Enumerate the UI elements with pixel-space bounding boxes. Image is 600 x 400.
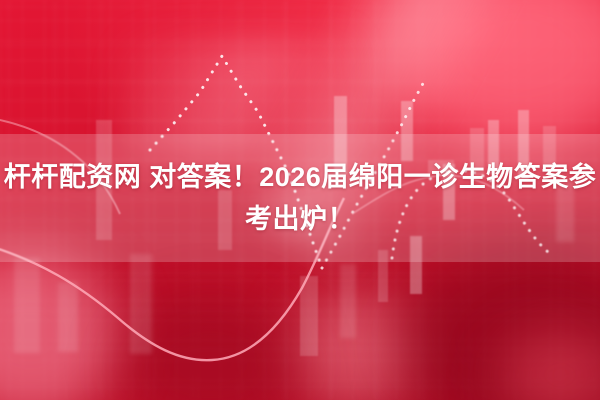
headline-line-1: 杆杆配资网 对答案！2026届绵阳一诊生物答案参 (4, 160, 597, 194)
headline: 杆杆配资网 对答案！2026届绵阳一诊生物答案参 考出炉！ (0, 134, 600, 262)
headline-line-2: 考出炉！ (245, 202, 355, 236)
banner-image: 杆杆配资网 对答案！2026届绵阳一诊生物答案参 考出炉！ (0, 0, 600, 400)
